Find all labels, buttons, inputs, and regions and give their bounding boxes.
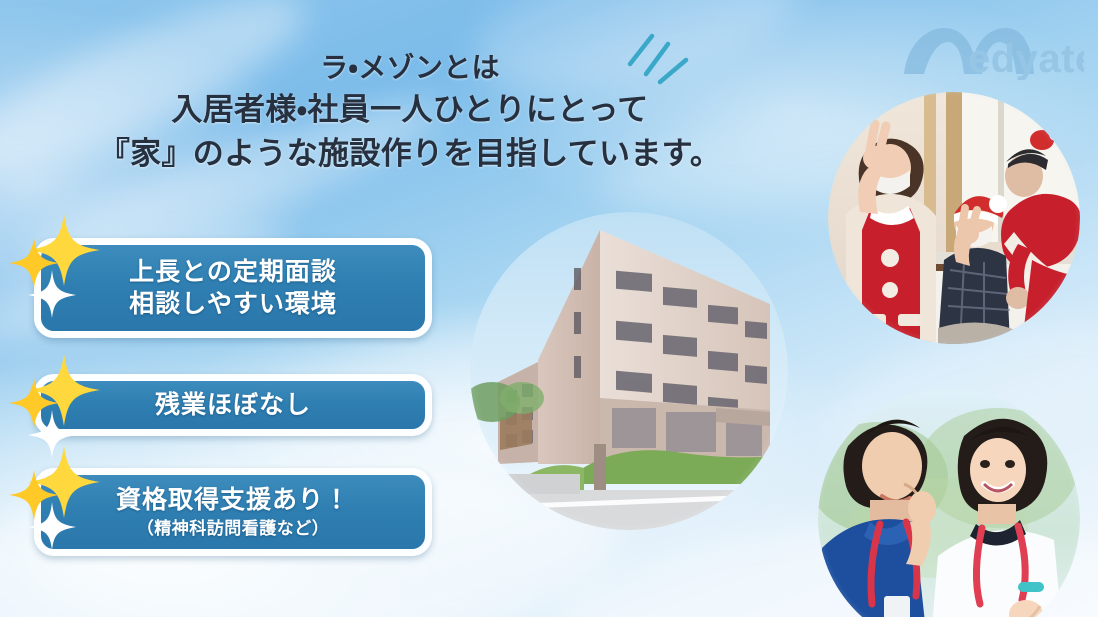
medyate-logo: edyate [898, 22, 1084, 80]
svg-text:edyate: edyate [968, 37, 1084, 80]
feature-pill-regular-meetings[interactable]: 上長との定期面談 相談しやすい環境 [34, 238, 432, 338]
feature-pill-2-line-1: 残業ほぼなし [155, 389, 311, 422]
headline-line-3: 『家』のような施設作りを目指しています。 [0, 132, 820, 176]
facility-building-photo [470, 212, 788, 530]
shine-accent-icon [616, 30, 696, 92]
headline-line-2: 入居者様・社員一人ひとりにとって [0, 88, 820, 132]
feature-pill-1-line-2: 相談しやすい環境 [129, 288, 337, 321]
staff-christmas-photo [828, 92, 1080, 344]
feature-pill-1-line-1: 上長との定期面談 [129, 256, 337, 289]
feature-pill-3-subtext: （精神科訪問看護など） [137, 518, 330, 540]
feature-pill-3-line-1: 資格取得支援あり！ [116, 484, 350, 517]
headline-line-1: ラ・メゾンとは [0, 48, 820, 88]
slide-canvas: edyate ラ・メゾンとは 入居者様・社員一人ひとりにとって 『家』のような施… [0, 0, 1098, 617]
page-title: ラ・メゾンとは 入居者様・社員一人ひとりにとって 『家』のような施設作りを目指し… [0, 48, 820, 176]
feature-pill-no-overtime[interactable]: 残業ほぼなし [34, 374, 432, 436]
care-staff-photo [818, 388, 1080, 617]
feature-pill-qualification-support[interactable]: 資格取得支援あり！ （精神科訪問看護など） [34, 468, 432, 556]
